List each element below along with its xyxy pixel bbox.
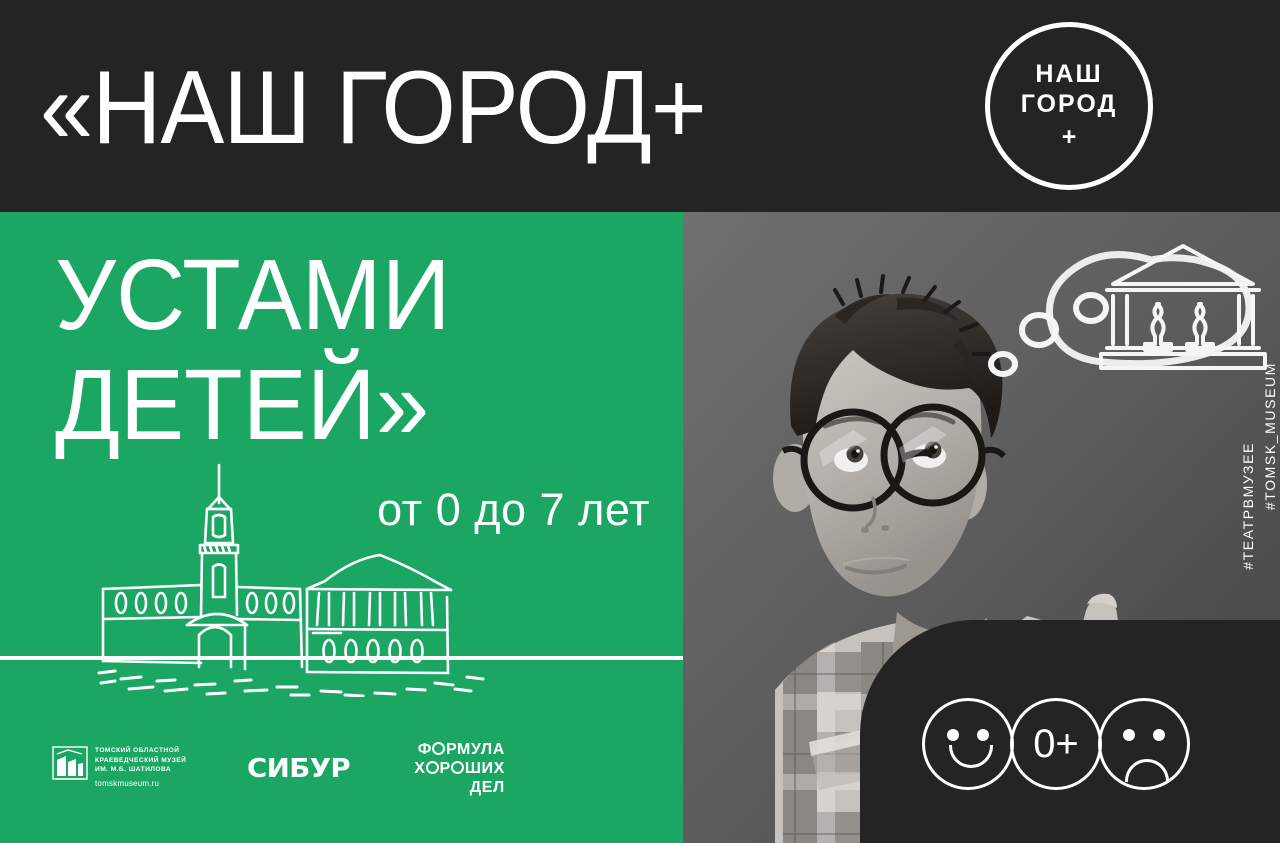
museum-name-line3: ИМ. М.Б. ШАТИЛОВА [95,765,186,775]
hashtag-group: #TOMSK_MUSEUM #ТЕАТРВМУЗЕЕ [1240,362,1278,662]
logo-formula-horoshih-del[interactable]: ФРМУЛА ХРШИХ ДЕЛ [414,740,505,797]
sad-face-icon [1098,698,1190,790]
museum-name-line2: КРАЕВЕДЧЕСКИЙ МУЗЕЙ [95,756,186,766]
formula-f: Ф [418,741,432,758]
brand-badge-nash-gorod: НАШ ГОРОД + [985,22,1153,190]
green-panel: УСТАМИ ДЕТЕЙ» от 0 до 7 лет [0,212,683,843]
brand-badge-line1: НАШ [1035,59,1102,89]
museum-name-line1: ТОМСКИЙ ОБЛАСТНОЙ [95,746,186,756]
formula-line3: ДЕЛ [414,778,505,797]
age-rating-faces: 0+ [922,698,1190,790]
hashtag-teatr-v-muzee[interactable]: #ТЕАТРВМУЗЕЕ [1240,442,1256,570]
formula-r: Р [440,760,451,777]
formula-line1: ФРМУЛА [414,740,505,759]
happy-mouth [949,745,993,768]
formula-line2: ХРШИХ [414,759,505,778]
sponsor-row: ТОМСКИЙ ОБЛАСТНОЙ КРАЕВЕДЧЕСКИЙ МУЗЕЙ ИМ… [52,740,505,797]
age-rating-value: 0+ [1013,701,1099,787]
divider-line [0,656,683,660]
sad-eye-right [1153,729,1165,741]
sad-mouth [1125,759,1169,782]
hashtag-tomsk-museum[interactable]: #TOMSK_MUSEUM [1262,362,1278,510]
happy-eye-left [947,729,959,741]
happy-face-icon [922,698,1014,790]
formula-shih: ШИХ [465,760,505,777]
formula-o-circle-1 [432,742,445,755]
age-range-label: от 0 до 7 лет [377,484,650,536]
formula-h: Х [414,760,425,777]
logo-sibur[interactable]: СИБУР [247,754,350,784]
brand-badge-line2: ГОРОД [1021,89,1118,119]
formula-rmula: РМУЛА [446,741,505,758]
page-title: «НАШ ГОРОД+ [40,56,706,160]
poster-header: «НАШ ГОРОД+ НАШ ГОРОД + [0,0,1280,212]
happy-eye-right [977,729,989,741]
formula-o-circle-2 [426,761,439,774]
age-rating-badge: 0+ [1010,698,1102,790]
headline: УСТАМИ ДЕТЕЙ» [55,240,451,460]
museum-name-block: ТОМСКИЙ ОБЛАСТНОЙ КРАЕВЕДЧЕСКИЙ МУЗЕЙ ИМ… [95,746,186,791]
museum-website-url[interactable]: tomskmuseum.ru [95,777,186,791]
sad-eye-left [1123,729,1135,741]
brand-badge-plus: + [1062,121,1077,153]
logo-tomsk-museum[interactable]: ТОМСКИЙ ОБЛАСТНОЙ КРАЕВЕДЧЕСКИЙ МУЗЕЙ ИМ… [52,746,192,791]
museum-mark-icon [52,746,88,786]
age-rating-panel: 0+ [860,620,1280,843]
formula-o-circle-3 [451,761,464,774]
poster-root: «НАШ ГОРОД+ НАШ ГОРОД + УСТАМИ ДЕТЕЙ» от… [0,0,1280,843]
